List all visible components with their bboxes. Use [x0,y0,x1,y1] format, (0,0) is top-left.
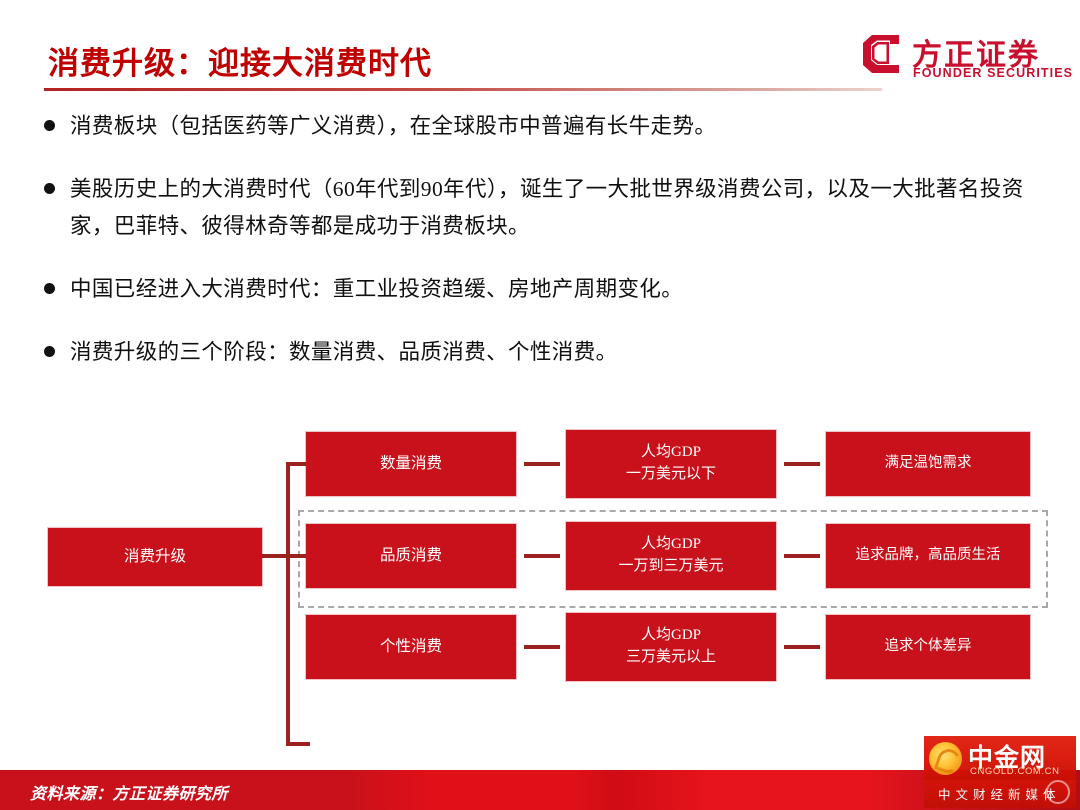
slide-header: 消费升级：迎接大消费时代 方正证券 FOUNDER SECURITIES [0,0,1080,100]
diagram-node-stage-label: 个性消费 [380,636,442,658]
bullet-dot-icon [44,120,55,131]
diagram-node-stage: 数量消费 [306,432,516,496]
bullet-text: 消费升级的三个阶段：数量消费、品质消费、个性消费。 [70,334,618,371]
connector-branch-row3 [286,742,310,746]
title-underline [44,88,882,91]
diagram-node-gdp-line2: 一万到三万美元 [618,556,723,578]
connector-stage-gdp-row2 [524,554,560,558]
watermark-url: CNGOLD.COM.CN [970,766,1060,777]
bullet-list: 消费板块（包括医药等广义消费），在全球股市中普遍有长牛走势。 美股历史上的大消费… [44,108,1044,397]
founder-securities-logo: 方正证券 FOUNDER SECURITIES [860,30,1050,84]
diagram-node-desc: 追求个体差异 [826,615,1030,679]
diagram-node-desc: 满足温饱需求 [826,432,1030,496]
slide: 消费升级：迎接大消费时代 方正证券 FOUNDER SECURITIES 消费板… [0,0,1080,810]
bullet-item: 美股历史上的大消费时代（60年代到90年代），诞生了一大批世界级消费公司，以及一… [44,171,1044,245]
connector-gdp-desc-row1 [784,462,820,466]
diagram-node-gdp-line2: 一万美元以下 [626,464,716,486]
bullet-item: 消费板块（包括医药等广义消费），在全球股市中普遍有长牛走势。 [44,108,1044,145]
logo-name-en: FOUNDER SECURITIES [913,66,1073,80]
bullet-text: 中国已经进入大消费时代：重工业投资趋缓、房地产周期变化。 [70,271,683,308]
bullet-text: 美股历史上的大消费时代（60年代到90年代），诞生了一大批世界级消费公司，以及一… [70,171,1044,245]
diagram-node-gdp-line2: 三万美元以上 [626,647,716,669]
founder-diamond-mark-icon [860,34,902,74]
source-text: 资料来源：方正证券研究所 [30,780,228,804]
diagram-node-stage-label: 数量消费 [380,453,442,475]
diagram-node-root: 消费升级 [48,528,262,586]
bullet-item: 中国已经进入大消费时代：重工业投资趋缓、房地产周期变化。 [44,271,1044,308]
consumption-upgrade-diagram: 消费升级 数量消费 人均GDP 一万美元以下 满足温饱需求 品质消费 人均GDP… [0,400,1080,710]
cngold-watermark: 中金网 CNGOLD.COM.CN 中文财经新媒体 [924,736,1076,808]
bullet-dot-icon [44,283,55,294]
connector-gdp-desc-row3 [784,645,820,649]
diagram-node-stage-label: 品质消费 [380,545,442,567]
diagram-node-gdp: 人均GDP 一万美元以下 [566,430,776,498]
diagram-node-stage: 个性消费 [306,615,516,679]
connector-stage-gdp-row1 [524,462,560,466]
bullet-item: 消费升级的三个阶段：数量消费、品质消费、个性消费。 [44,334,1044,371]
connector-trunk-vertical [286,462,290,746]
watermark-ring-icon [1046,780,1070,804]
slide-footer: 资料来源：方正证券研究所 [0,770,1080,810]
watermark-tagline: 中文财经新媒体 [938,784,1061,803]
diagram-node-gdp-line1: 人均GDP [641,442,701,464]
diagram-node-root-label: 消费升级 [124,546,186,568]
page-title: 消费升级：迎接大消费时代 [48,38,432,83]
diagram-node-stage: 品质消费 [306,524,516,588]
bullet-dot-icon [44,346,55,357]
bullet-text: 消费板块（包括医药等广义消费），在全球股市中普遍有长牛走势。 [70,108,716,145]
diagram-node-gdp-line1: 人均GDP [641,534,701,556]
diagram-node-desc-label: 追求个体差异 [885,636,972,657]
diagram-node-desc-label: 追求品牌，高品质生活 [856,545,1001,566]
diagram-node-desc: 追求品牌，高品质生活 [826,524,1030,588]
diagram-node-gdp: 人均GDP 一万到三万美元 [566,522,776,590]
bullet-dot-icon [44,183,55,194]
diagram-node-gdp-line1: 人均GDP [641,625,701,647]
connector-stage-gdp-row3 [524,645,560,649]
connector-gdp-desc-row2 [784,554,820,558]
diagram-node-desc-label: 满足温饱需求 [885,453,972,474]
diagram-node-gdp: 人均GDP 三万美元以上 [566,613,776,681]
